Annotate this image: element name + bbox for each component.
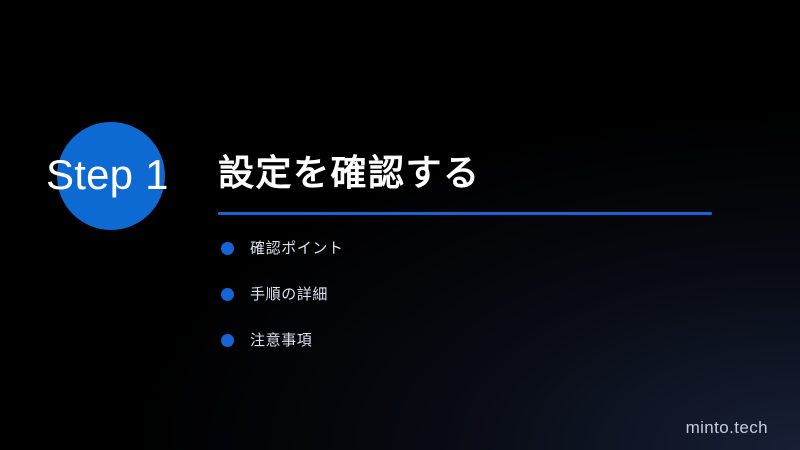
step-badge-label: Step 1 [46,152,169,198]
slide-content: Step 1 設定を確認する 確認ポイント 手順の詳細 注意事項 minto.t… [0,0,800,450]
title-divider [218,212,712,215]
list-item: 確認ポイント [221,237,721,260]
slide-canvas: Step 1 設定を確認する 確認ポイント 手順の詳細 注意事項 minto.t… [0,0,800,450]
list-item: 注意事項 [221,329,721,352]
list-item: 手順の詳細 [221,283,721,306]
list-item-label: 注意事項 [250,329,312,352]
list-item-label: 確認ポイント [250,237,344,260]
bullet-dot-icon [221,242,234,255]
list-item-label: 手順の詳細 [250,283,328,306]
footer-brand: minto.tech [686,418,768,438]
page-title: 設定を確認する [218,150,481,196]
bullet-dot-icon [221,288,234,301]
bullet-dot-icon [221,334,234,347]
bullet-list: 確認ポイント 手順の詳細 注意事項 [221,237,721,375]
